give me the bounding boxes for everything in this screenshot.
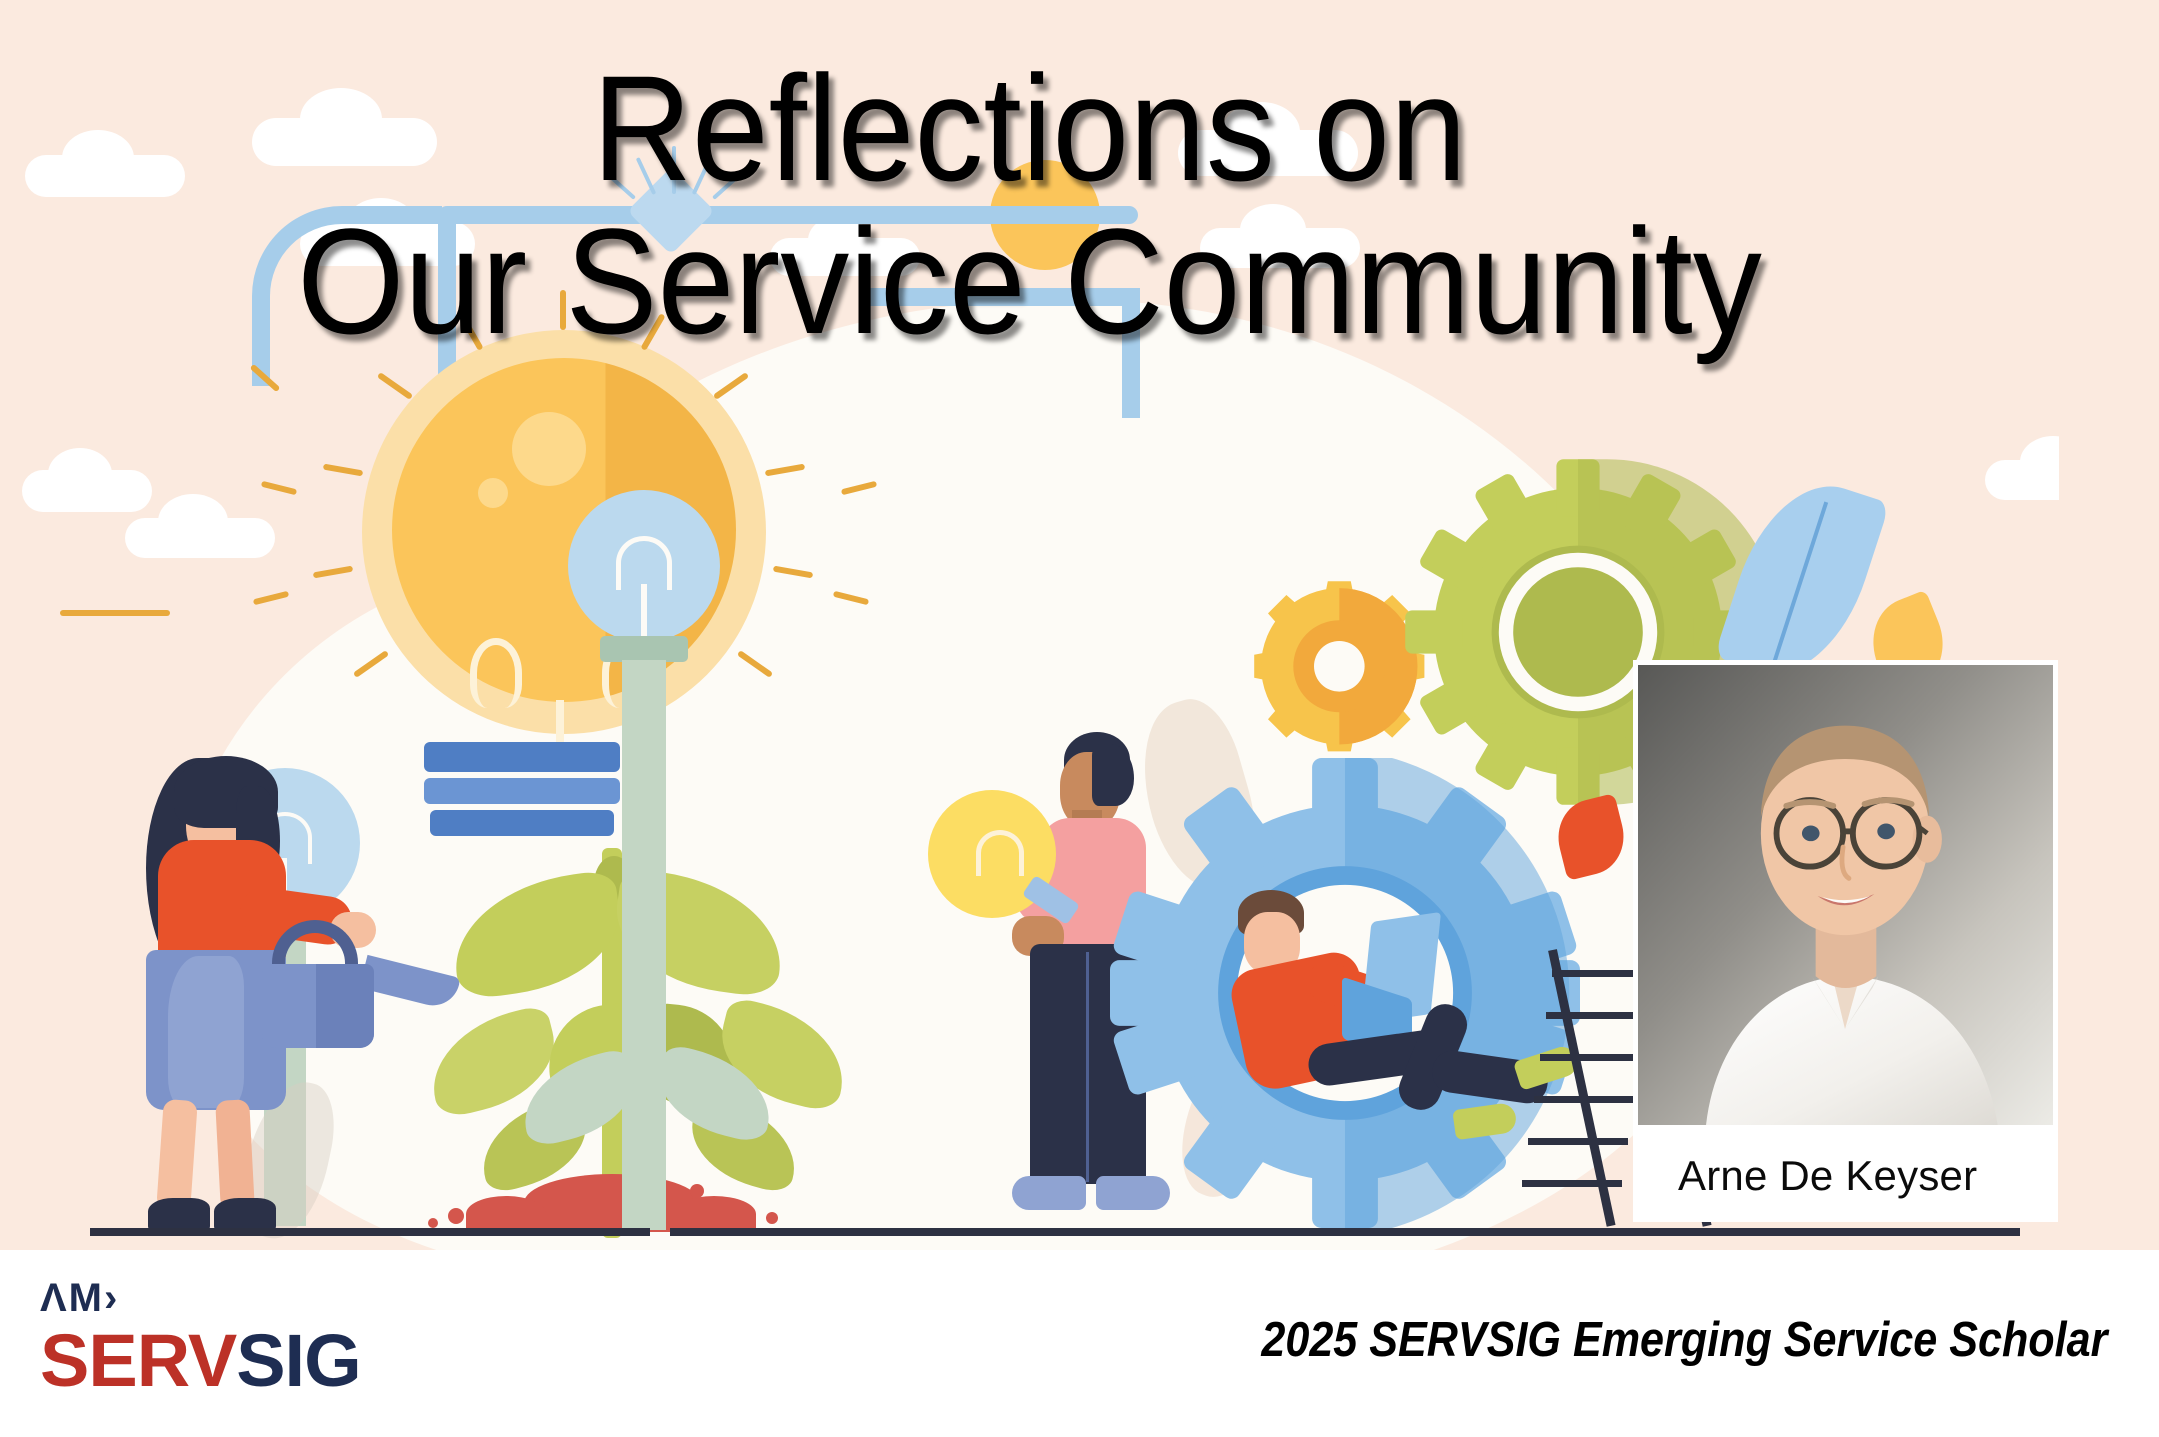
watering-can xyxy=(262,920,462,1050)
man-shoe xyxy=(1012,1176,1086,1210)
lightbulb-handheld-filament xyxy=(976,830,1024,876)
pipe-segment-vertical-right xyxy=(1122,288,1140,418)
cloud-icon xyxy=(1240,204,1306,256)
gem-ray xyxy=(636,157,657,195)
man-jeans-seam xyxy=(1086,952,1089,1182)
servsig-logo: ΛM› SERVSIG xyxy=(40,1278,340,1400)
ama-wordmark: ΛM› xyxy=(40,1278,340,1318)
ladder-rung xyxy=(1528,1138,1628,1145)
logo-sig-text: SIG xyxy=(236,1319,360,1402)
woman-skirt-shade xyxy=(168,956,244,1108)
pipe-elbow-left xyxy=(252,206,442,386)
ladder-rung xyxy=(1522,1180,1622,1187)
speaker-photo-frame xyxy=(1633,660,2058,1130)
woman-shoe xyxy=(148,1198,210,1232)
watering-can-spout xyxy=(359,955,460,1011)
laptop-person-shoe xyxy=(1452,1102,1518,1140)
gem-ray xyxy=(672,146,676,194)
slide-footer: ΛM› SERVSIG 2025 SERVSIG Emerging Servic… xyxy=(0,1250,2159,1437)
lightbulb-main-filament-left xyxy=(470,638,522,708)
bulb-ray xyxy=(253,591,289,606)
bulb-ray xyxy=(60,610,170,616)
bulb-ray xyxy=(323,464,363,477)
soil-speck xyxy=(690,1184,704,1198)
bulb-ray xyxy=(261,481,297,496)
logo-serv-text: SERV xyxy=(40,1319,236,1402)
gem-ray xyxy=(712,174,740,200)
gem-ray xyxy=(608,174,636,200)
ladder-rung xyxy=(1540,1054,1640,1061)
bulb-ray xyxy=(313,566,353,579)
ground-line xyxy=(90,1228,2020,1236)
ladder-rung xyxy=(1546,1012,1646,1019)
woman-shoe xyxy=(214,1198,276,1232)
bulb-ray xyxy=(458,313,483,351)
cloud-icon xyxy=(300,88,382,150)
lightbulb-small-right-stem xyxy=(641,584,647,642)
lightbulb-main-highlight xyxy=(512,412,586,486)
cloud-icon xyxy=(62,130,134,186)
speaker-headshot xyxy=(1638,665,2053,1125)
presentation-slide: Arne De Keyser Reflections on Our Servic… xyxy=(0,0,2159,1437)
bulb-ray xyxy=(640,313,665,351)
lightbulb-small-right-stand xyxy=(622,660,666,1230)
lightbulb-main-highlight-small xyxy=(478,478,508,508)
soil-speck xyxy=(448,1208,464,1224)
lightbulb-small-right-filament xyxy=(616,536,672,590)
soil-speck xyxy=(428,1218,438,1228)
ladder-rung xyxy=(1534,1096,1634,1103)
soil-speck xyxy=(766,1212,778,1224)
cloud-icon xyxy=(48,448,112,500)
laptop-person-character xyxy=(1196,860,1596,1180)
woman-leg xyxy=(215,1099,255,1211)
cloud-icon xyxy=(1222,102,1300,162)
pipe-segment-horizontal-right xyxy=(860,288,1140,306)
cloud-icon xyxy=(158,494,228,549)
lightbulb-main-base xyxy=(424,778,620,804)
speaker-name-plate: Arne De Keyser xyxy=(1633,1130,2058,1222)
pipe-segment-horizontal xyxy=(438,206,1138,224)
servsig-wordmark: SERVSIG xyxy=(40,1322,340,1400)
lightbulb-small-right-base xyxy=(600,636,688,662)
lightbulb-main-base xyxy=(430,810,614,836)
woman-leg xyxy=(156,1099,198,1211)
bulb-ray xyxy=(560,290,566,330)
speaker-name: Arne De Keyser xyxy=(1678,1152,1977,1200)
soil-mound-right xyxy=(672,1196,756,1232)
gem-ray xyxy=(692,157,713,195)
watering-can-shade xyxy=(316,964,374,1048)
footer-tagline: 2025 SERVSIG Emerging Service Scholar xyxy=(1261,1312,2107,1368)
lightbulb-main-base xyxy=(424,742,620,772)
soil-mound-left xyxy=(466,1196,546,1232)
